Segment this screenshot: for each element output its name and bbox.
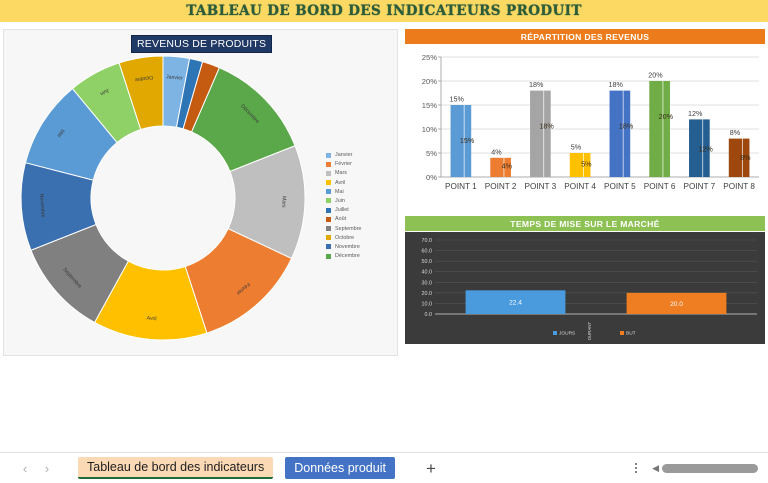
svg-text:20%: 20% bbox=[648, 71, 663, 80]
dark-svg: 0.010.020.030.040.050.060.070.0 22.420.0… bbox=[405, 232, 765, 344]
dashboard-root: TABLEAU DE BORD DES INDICATEURS PRODUIT … bbox=[0, 0, 768, 483]
donut-legend-item: Juin bbox=[326, 198, 396, 204]
svg-text:12%: 12% bbox=[698, 145, 713, 154]
repartition-revenus-chart[interactable]: RÉPARTITION DES REVENUS 0%5%10%15%20%25%… bbox=[405, 29, 765, 209]
donut-legend-item: Juillet bbox=[326, 207, 396, 213]
legend-swatch bbox=[326, 244, 331, 249]
svg-text:POINT 5: POINT 5 bbox=[604, 182, 636, 191]
horizontal-scrollbar[interactable] bbox=[662, 464, 758, 473]
svg-text:15%: 15% bbox=[450, 95, 465, 104]
svg-text:18%: 18% bbox=[619, 122, 634, 131]
donut-legend-item: Décembre bbox=[326, 253, 396, 259]
svg-text:20.0: 20.0 bbox=[670, 301, 683, 308]
svg-text:60.0: 60.0 bbox=[422, 249, 433, 255]
svg-text:BUT: BUT bbox=[626, 331, 636, 337]
sheet-tab-bar: ‹ › Tableau de bord des indicateurs Donn… bbox=[0, 452, 768, 483]
sheet-tab-label: Tableau de bord des indicateurs bbox=[87, 460, 264, 474]
svg-text:POINT 7: POINT 7 bbox=[684, 182, 716, 191]
dark-chart-header: TEMPS DE MISE SUR LE MARCHÉ bbox=[405, 216, 765, 231]
chevron-left-icon[interactable]: ‹ bbox=[14, 457, 36, 479]
donut-svg: JanvierDécembreMarsFévrierAvrilSeptembre… bbox=[18, 50, 308, 345]
svg-text:5%: 5% bbox=[571, 143, 582, 152]
donut-legend-item: Novembre bbox=[326, 244, 396, 250]
legend-label: Août bbox=[335, 216, 346, 222]
svg-text:50.0: 50.0 bbox=[422, 259, 433, 265]
svg-text:0.0: 0.0 bbox=[425, 312, 433, 318]
legend-swatch bbox=[326, 162, 331, 167]
svg-text:10.0: 10.0 bbox=[422, 301, 433, 307]
legend-label: Novembre bbox=[335, 244, 360, 250]
svg-text:30.0: 30.0 bbox=[422, 280, 433, 286]
svg-text:DURANT: DURANT bbox=[587, 322, 592, 341]
donut-legend-item: Avril bbox=[326, 180, 396, 186]
sheet-tab-tableau-de-bord[interactable]: Tableau de bord des indicateurs bbox=[78, 457, 273, 479]
svg-text:4%: 4% bbox=[502, 162, 513, 171]
legend-label: Mars bbox=[335, 170, 347, 176]
dark-plot-area: 0.010.020.030.040.050.060.070.0 22.420.0… bbox=[405, 232, 765, 344]
legend-swatch bbox=[326, 254, 331, 259]
svg-text:POINT 1: POINT 1 bbox=[445, 182, 477, 191]
bars-chart-title: RÉPARTITION DES REVENUS bbox=[521, 32, 650, 42]
donut-legend-item: Août bbox=[326, 216, 396, 222]
svg-text:8%: 8% bbox=[740, 153, 751, 162]
donut-legend-item: Mai bbox=[326, 189, 396, 195]
legend-swatch bbox=[326, 226, 331, 231]
legend-label: Avril bbox=[335, 180, 345, 186]
svg-text:POINT 4: POINT 4 bbox=[564, 182, 596, 191]
add-sheet-button[interactable]: + bbox=[421, 460, 441, 477]
scroll-left-icon[interactable]: ◀ bbox=[652, 463, 659, 474]
kebab-menu-icon[interactable] bbox=[628, 463, 644, 473]
svg-text:15%: 15% bbox=[460, 136, 475, 145]
svg-text:POINT 3: POINT 3 bbox=[525, 182, 557, 191]
svg-text:12%: 12% bbox=[688, 109, 703, 118]
legend-swatch bbox=[326, 171, 331, 176]
legend-swatch bbox=[326, 217, 331, 222]
sheet-tab-donnees-produit[interactable]: Données produit bbox=[285, 457, 395, 479]
legend-label: Juillet bbox=[335, 207, 349, 213]
legend-label: Octobre bbox=[335, 235, 354, 241]
dark-chart-title: TEMPS DE MISE SUR LE MARCHÉ bbox=[510, 219, 659, 229]
chevron-right-icon[interactable]: › bbox=[36, 457, 58, 479]
donut-legend-item: Mars bbox=[326, 170, 396, 176]
legend-swatch bbox=[326, 198, 331, 203]
bars-svg: 0%5%10%15%20%25% POINT 1POINT 2POINT 3PO… bbox=[405, 45, 765, 209]
svg-text:5%: 5% bbox=[581, 159, 592, 168]
donut-legend-item: Janvier bbox=[326, 152, 396, 158]
svg-text:Avril: Avril bbox=[146, 315, 157, 322]
svg-text:JOURS: JOURS bbox=[559, 331, 575, 337]
svg-text:25%: 25% bbox=[422, 53, 437, 62]
donut-plot-area: JanvierDécembreMarsFévrierAvrilSeptembre… bbox=[18, 50, 308, 345]
svg-text:22.4: 22.4 bbox=[509, 300, 522, 307]
svg-text:10%: 10% bbox=[422, 125, 437, 134]
legend-label: Décembre bbox=[335, 253, 360, 259]
legend-swatch bbox=[326, 153, 331, 158]
svg-text:0%: 0% bbox=[426, 173, 437, 182]
legend-swatch bbox=[326, 189, 331, 194]
legend-label: Juin bbox=[335, 198, 345, 204]
bars-chart-header: RÉPARTITION DES REVENUS bbox=[405, 29, 765, 44]
donut-legend-item: Septembre bbox=[326, 226, 396, 232]
sheet-tab-label: Données produit bbox=[294, 461, 386, 475]
donut-legend: JanvierFévrierMarsAvrilMaiJuinJuilletAoû… bbox=[326, 152, 396, 262]
svg-text:20%: 20% bbox=[422, 77, 437, 86]
bars-plot-area: 0%5%10%15%20%25% POINT 1POINT 2POINT 3PO… bbox=[405, 45, 765, 209]
svg-text:15%: 15% bbox=[422, 101, 437, 110]
legend-swatch bbox=[326, 208, 331, 213]
svg-text:20%: 20% bbox=[659, 112, 674, 121]
svg-text:POINT 6: POINT 6 bbox=[644, 182, 676, 191]
svg-text:8%: 8% bbox=[730, 128, 741, 137]
revenus-produits-chart[interactable]: REVENUS DE PRODUITS JanvierDécembreMarsF… bbox=[3, 29, 398, 356]
donut-legend-item: Février bbox=[326, 161, 396, 167]
legend-label: Février bbox=[335, 161, 352, 167]
legend-swatch bbox=[326, 235, 331, 240]
svg-text:5%: 5% bbox=[426, 149, 437, 158]
page-title: TABLEAU DE BORD DES INDICATEURS PRODUIT bbox=[186, 3, 582, 19]
svg-text:4%: 4% bbox=[491, 147, 502, 156]
svg-text:20.0: 20.0 bbox=[422, 291, 433, 297]
legend-swatch bbox=[326, 180, 331, 185]
svg-text:40.0: 40.0 bbox=[422, 270, 433, 276]
tab-bar-right-controls: ◀ bbox=[628, 463, 758, 474]
temps-mise-marche-chart[interactable]: TEMPS DE MISE SUR LE MARCHÉ 0.010.020.03… bbox=[405, 216, 765, 344]
svg-text:18%: 18% bbox=[539, 122, 554, 131]
legend-label: Mai bbox=[335, 189, 344, 195]
legend-label: Janvier bbox=[335, 152, 352, 158]
svg-text:18%: 18% bbox=[609, 80, 624, 89]
svg-text:18%: 18% bbox=[529, 80, 544, 89]
svg-text:Mars: Mars bbox=[280, 196, 286, 208]
dashboard-title-banner: TABLEAU DE BORD DES INDICATEURS PRODUIT bbox=[0, 0, 768, 22]
svg-text:POINT 8: POINT 8 bbox=[723, 182, 755, 191]
legend-label: Septembre bbox=[335, 226, 361, 232]
donut-legend-item: Octobre bbox=[326, 235, 396, 241]
sheet-nav-arrows: ‹ › bbox=[14, 457, 58, 479]
svg-text:70.0: 70.0 bbox=[422, 238, 433, 244]
svg-text:POINT 2: POINT 2 bbox=[485, 182, 517, 191]
